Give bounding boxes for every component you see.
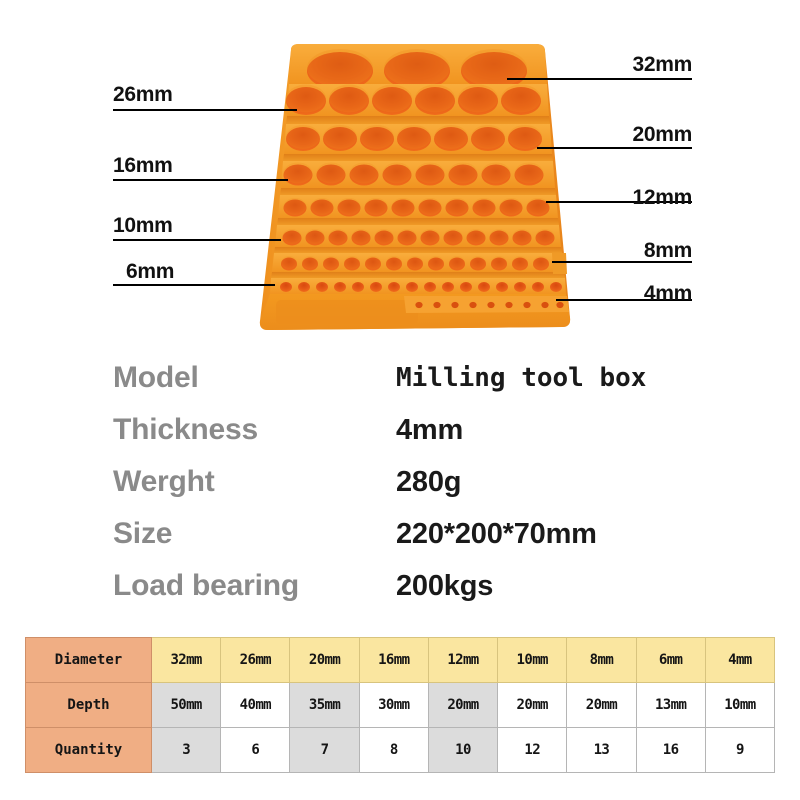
table-cell-depth-0: 50mm: [152, 683, 221, 728]
table-cell-quantity-6: 13: [567, 728, 636, 773]
spec-label-thickness: Thickness: [113, 415, 396, 445]
tier-8mm: [271, 253, 567, 278]
table-row-depth: Depth 50mm 40mm 35mm 30mm 20mm 20mm 20mm…: [26, 683, 775, 728]
specification-list: Model Milling tool box Thickness 4mm Wer…: [0, 352, 800, 618]
table-cell-quantity-5: 12: [498, 728, 567, 773]
table-cell-quantity-2: 7: [290, 728, 359, 773]
table-cell-depth-7: 13mm: [636, 683, 705, 728]
table-cell-depth-3: 30mm: [359, 683, 428, 728]
callout-label-16mm: 16mm: [113, 155, 173, 176]
table-cell-diameter-7: 6mm: [636, 638, 705, 683]
table-cell-quantity-8: 9: [705, 728, 774, 773]
table-cell-quantity-0: 3: [152, 728, 221, 773]
table-cell-diameter-6: 8mm: [567, 638, 636, 683]
tier-20mm: [283, 124, 553, 161]
spec-row-size: Size 220*200*70mm: [113, 508, 733, 560]
callout-label-8mm: 8mm: [562, 240, 692, 261]
tier-12mm: [277, 195, 559, 225]
callout-label-20mm: 20mm: [562, 124, 692, 145]
spec-row-model: Model Milling tool box: [113, 352, 733, 404]
spec-row-load-bearing: Load bearing 200kgs: [113, 560, 733, 612]
spec-value-thickness: 4mm: [396, 416, 463, 445]
spec-label-size: Size: [113, 519, 396, 549]
tier-32mm: [289, 44, 547, 90]
callout-label-26mm: 26mm: [113, 84, 173, 105]
table-cell-depth-5: 20mm: [498, 683, 567, 728]
spec-row-weight: Werght 280g: [113, 456, 733, 508]
tier-6mm: [270, 278, 566, 294]
table-cell-quantity-3: 8: [359, 728, 428, 773]
table-cell-depth-4: 20mm: [428, 683, 497, 728]
table-cell-diameter-4: 12mm: [428, 638, 497, 683]
spec-row-thickness: Thickness 4mm: [113, 404, 733, 456]
table-cell-diameter-8: 4mm: [705, 638, 774, 683]
table-cell-quantity-4: 10: [428, 728, 497, 773]
spec-label-load-bearing: Load bearing: [113, 571, 396, 601]
spec-label-model: Model: [113, 363, 396, 393]
table-cell-diameter-2: 20mm: [290, 638, 359, 683]
table-cell-quantity-7: 16: [636, 728, 705, 773]
spec-label-weight: Werght: [113, 467, 396, 497]
callout-label-32mm: 32mm: [562, 54, 692, 75]
table-cell-depth-8: 10mm: [705, 683, 774, 728]
table-cell-depth-6: 20mm: [567, 683, 636, 728]
table-cell-diameter-3: 16mm: [359, 638, 428, 683]
table-row-quantity: Quantity 3 6 7 8 10 12 13 16 9: [26, 728, 775, 773]
product-illustration: 26mm 16mm 10mm 6mm 32mm 20mm 12mm 8mm 4m…: [0, 0, 800, 345]
table-rowhead-quantity: Quantity: [26, 728, 152, 773]
table-cell-diameter-1: 26mm: [221, 638, 290, 683]
callout-label-4mm: 4mm: [562, 283, 692, 304]
spec-value-load-bearing: 200kgs: [396, 572, 493, 601]
table-cell-depth-1: 40mm: [221, 683, 290, 728]
tier-16mm: [280, 161, 556, 195]
callout-label-12mm: 12mm: [562, 187, 692, 208]
callout-label-6mm: 6mm: [126, 261, 174, 282]
table-cell-quantity-1: 6: [221, 728, 290, 773]
spec-value-size: 220*200*70mm: [396, 520, 597, 549]
dimensions-table: Diameter 32mm 26mm 20mm 16mm 12mm 10mm 8…: [25, 637, 775, 773]
bottom-ledge: [260, 294, 570, 330]
tier-26mm: [286, 84, 550, 124]
tier-10mm: [274, 225, 562, 253]
table-row-diameter: Diameter 32mm 26mm 20mm 16mm 12mm 10mm 8…: [26, 638, 775, 683]
table-rowhead-depth: Depth: [26, 683, 152, 728]
table-cell-depth-2: 35mm: [290, 683, 359, 728]
table-rowhead-diameter: Diameter: [26, 638, 152, 683]
spec-value-weight: 280g: [396, 468, 461, 497]
callout-label-10mm: 10mm: [113, 215, 173, 236]
table-cell-diameter-0: 32mm: [152, 638, 221, 683]
spec-value-model: Milling tool box: [396, 365, 646, 391]
table-cell-diameter-5: 10mm: [498, 638, 567, 683]
